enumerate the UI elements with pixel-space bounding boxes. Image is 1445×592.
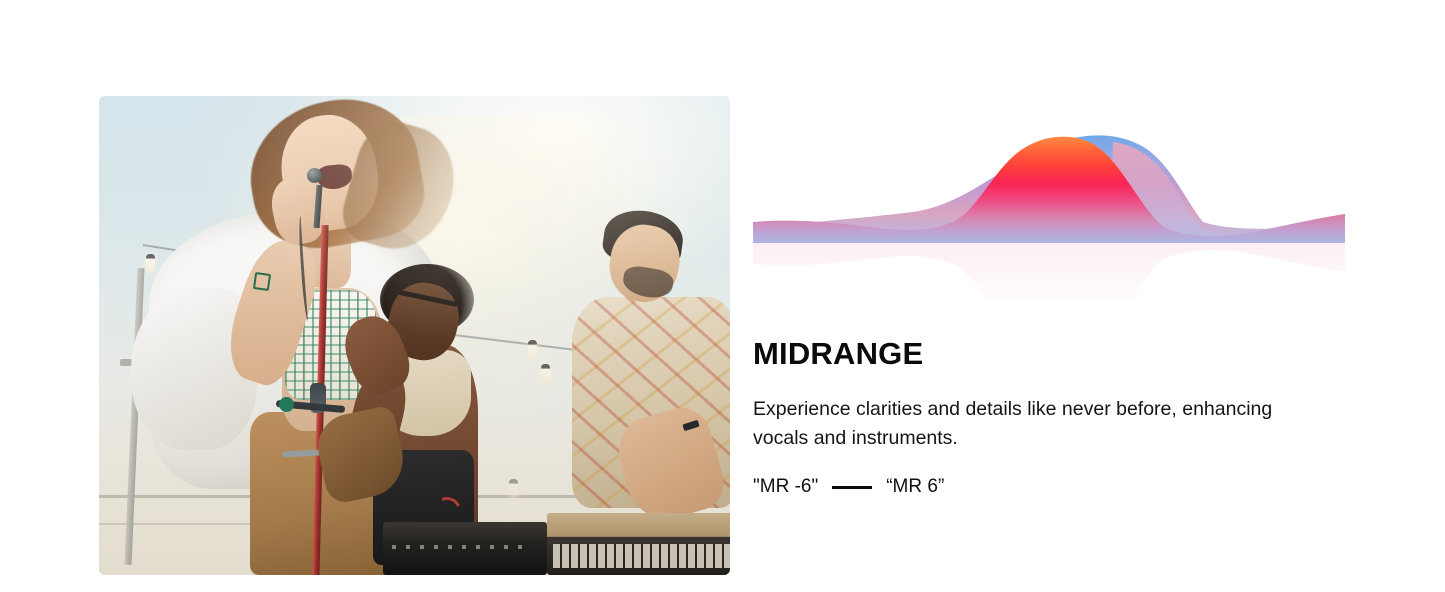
legend-low-label: "MR -6" [753, 476, 818, 498]
mixer-unit [383, 522, 547, 575]
legend-rule-icon [832, 486, 872, 489]
stand-adjust-knob [279, 397, 294, 412]
mixer-knobs [392, 545, 531, 549]
light-bulb-1 [146, 254, 155, 273]
page-title: MIDRANGE [753, 338, 923, 371]
legend-high-label: “MR 6” [886, 476, 944, 498]
photo-stage [99, 96, 730, 575]
frequency-response-waveform [753, 118, 1345, 300]
light-bulb-4 [509, 479, 518, 498]
waveform-reflection [753, 243, 1345, 300]
performance-photo [99, 96, 730, 575]
feature-content: MIDRANGE Experience clarities and detail… [753, 0, 1353, 592]
waveform-front-curve [753, 137, 1345, 243]
light-bulb-2 [528, 340, 537, 359]
light-bulb-3 [541, 364, 550, 383]
microphone-head [307, 168, 322, 183]
keyboard-keys [553, 544, 730, 568]
singer-tattoo [252, 272, 270, 291]
feature-description: Experience clarities and details like ne… [753, 395, 1293, 453]
legend: "MR -6" “MR 6” [753, 476, 944, 498]
